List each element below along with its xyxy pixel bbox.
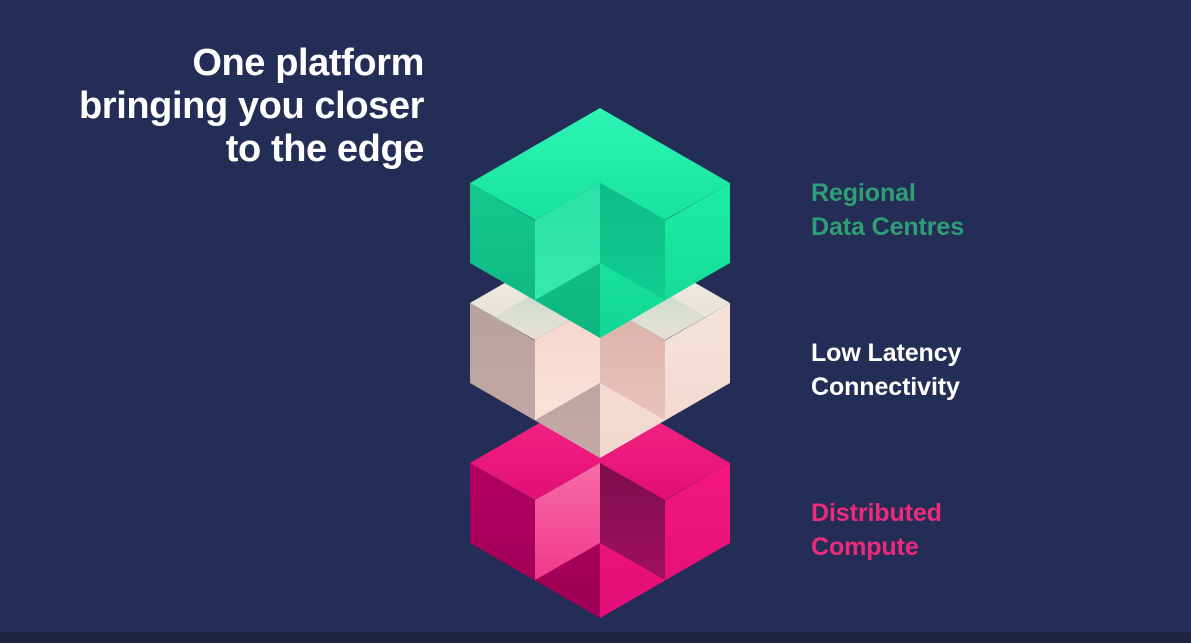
isometric-block-stack <box>455 88 745 618</box>
page-title: One platform bringing you closer to the … <box>40 42 424 171</box>
slide-canvas: One platform bringing you closer to the … <box>0 0 1191 643</box>
layer-label-regional-data-centres: Regional Data Centres <box>811 176 964 244</box>
layer-label-distributed-compute: Distributed Compute <box>811 496 942 564</box>
bottom-band <box>0 632 1191 643</box>
layer-label-low-latency-connectivity: Low Latency Connectivity <box>811 336 961 404</box>
